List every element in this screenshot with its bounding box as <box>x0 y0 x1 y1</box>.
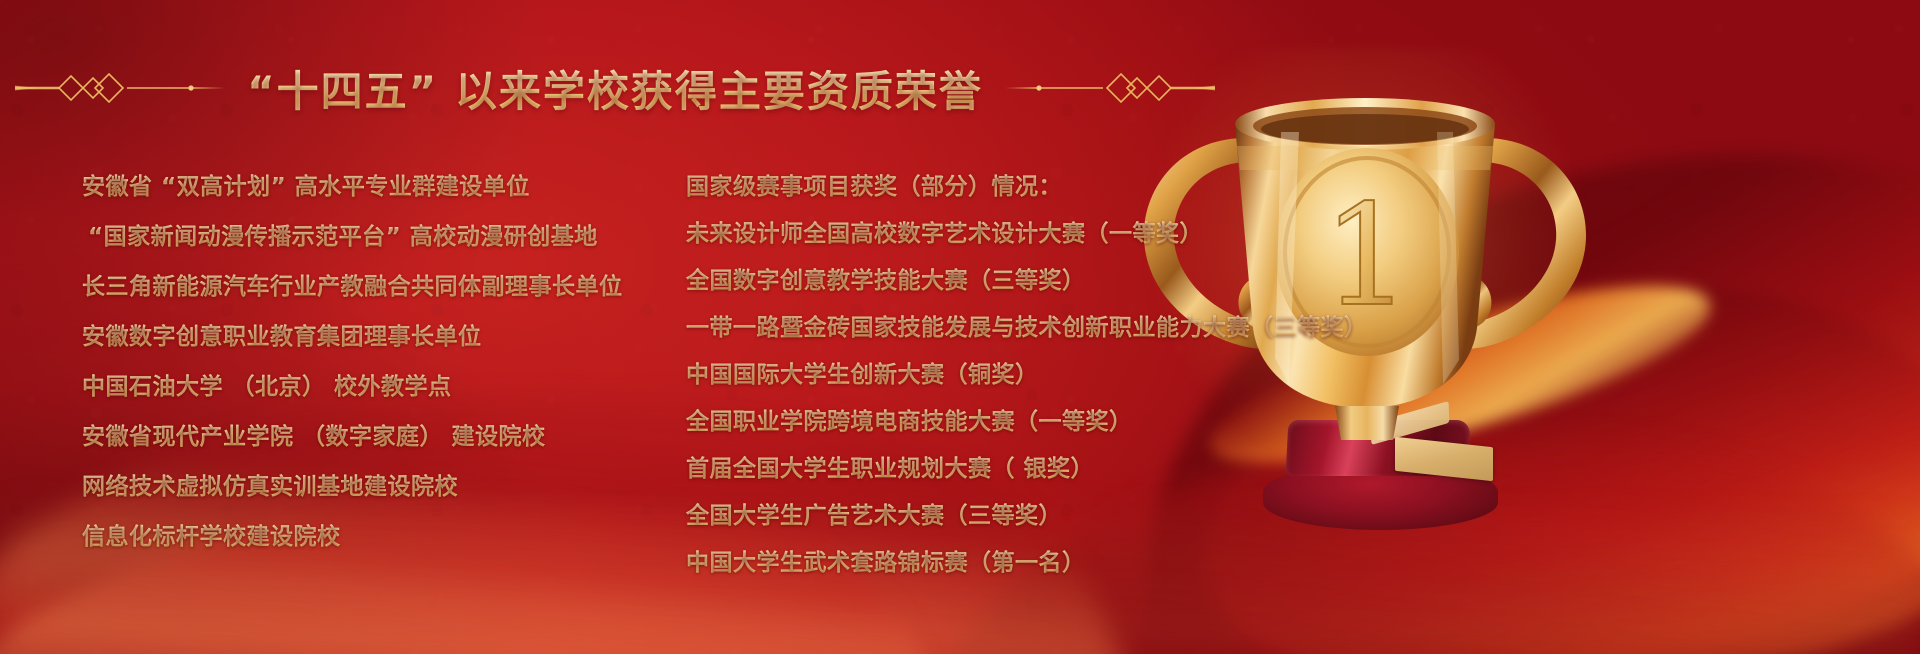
banner-title-row: “十四五” 以来学校获得主要资质荣誉 <box>0 52 1230 124</box>
list-item: 安徽数字创意职业教育集团理事长单位 <box>82 318 692 356</box>
awards-heading: 国家级赛事项目获奖（部分）情况： <box>686 168 1386 206</box>
list-item: 全国职业学院跨境电商技能大赛（一等奖） <box>686 403 1386 441</box>
page-title: “十四五” 以来学校获得主要资质荣誉 <box>225 58 1005 119</box>
list-item: 网络技术虚拟仿真实训基地建设院校 <box>82 468 692 506</box>
list-item: 全国大学生广告艺术大赛（三等奖） <box>686 497 1386 535</box>
list-item: “国家新闻动漫传播示范平台” 高校动漫研创基地 <box>82 218 692 256</box>
qualifications-list: 安徽省 “双高计划” 高水平专业群建设单位 “国家新闻动漫传播示范平台” 高校动… <box>82 168 692 568</box>
list-item: 中国大学生武术套路锦标赛（第一名） <box>686 544 1386 582</box>
list-item: 未来设计师全国高校数字艺术设计大赛（一等奖） <box>686 215 1386 253</box>
list-item: 全国数字创意教学技能大赛（三等奖） <box>686 262 1386 300</box>
honors-banner: 1 “十四五” 以来学校获得主要资质荣誉 <box>0 0 1920 654</box>
list-item: 长三角新能源汽车行业产教融合共同体副理事长单位 <box>82 268 692 306</box>
list-item: 信息化标杆学校建设院校 <box>82 518 692 556</box>
list-item: 一带一路暨金砖国家技能发展与技术创新职业能力大赛（三等奖） <box>686 309 1386 347</box>
list-item: 安徽省 “双高计划” 高水平专业群建设单位 <box>82 168 692 206</box>
list-item: 中国国际大学生创新大赛（铜奖） <box>686 356 1386 394</box>
list-item: 安徽省现代产业学院 （数字家庭） 建设院校 <box>82 418 692 456</box>
diamond-ornament-icon <box>15 65 225 111</box>
awards-list: 国家级赛事项目获奖（部分）情况： 未来设计师全国高校数字艺术设计大赛（一等奖） … <box>686 168 1386 591</box>
list-item: 中国石油大学 （北京） 校外教学点 <box>82 368 692 406</box>
diamond-ornament-icon <box>1005 65 1215 111</box>
list-item: 首届全国大学生职业规划大赛（ 银奖） <box>686 450 1386 488</box>
